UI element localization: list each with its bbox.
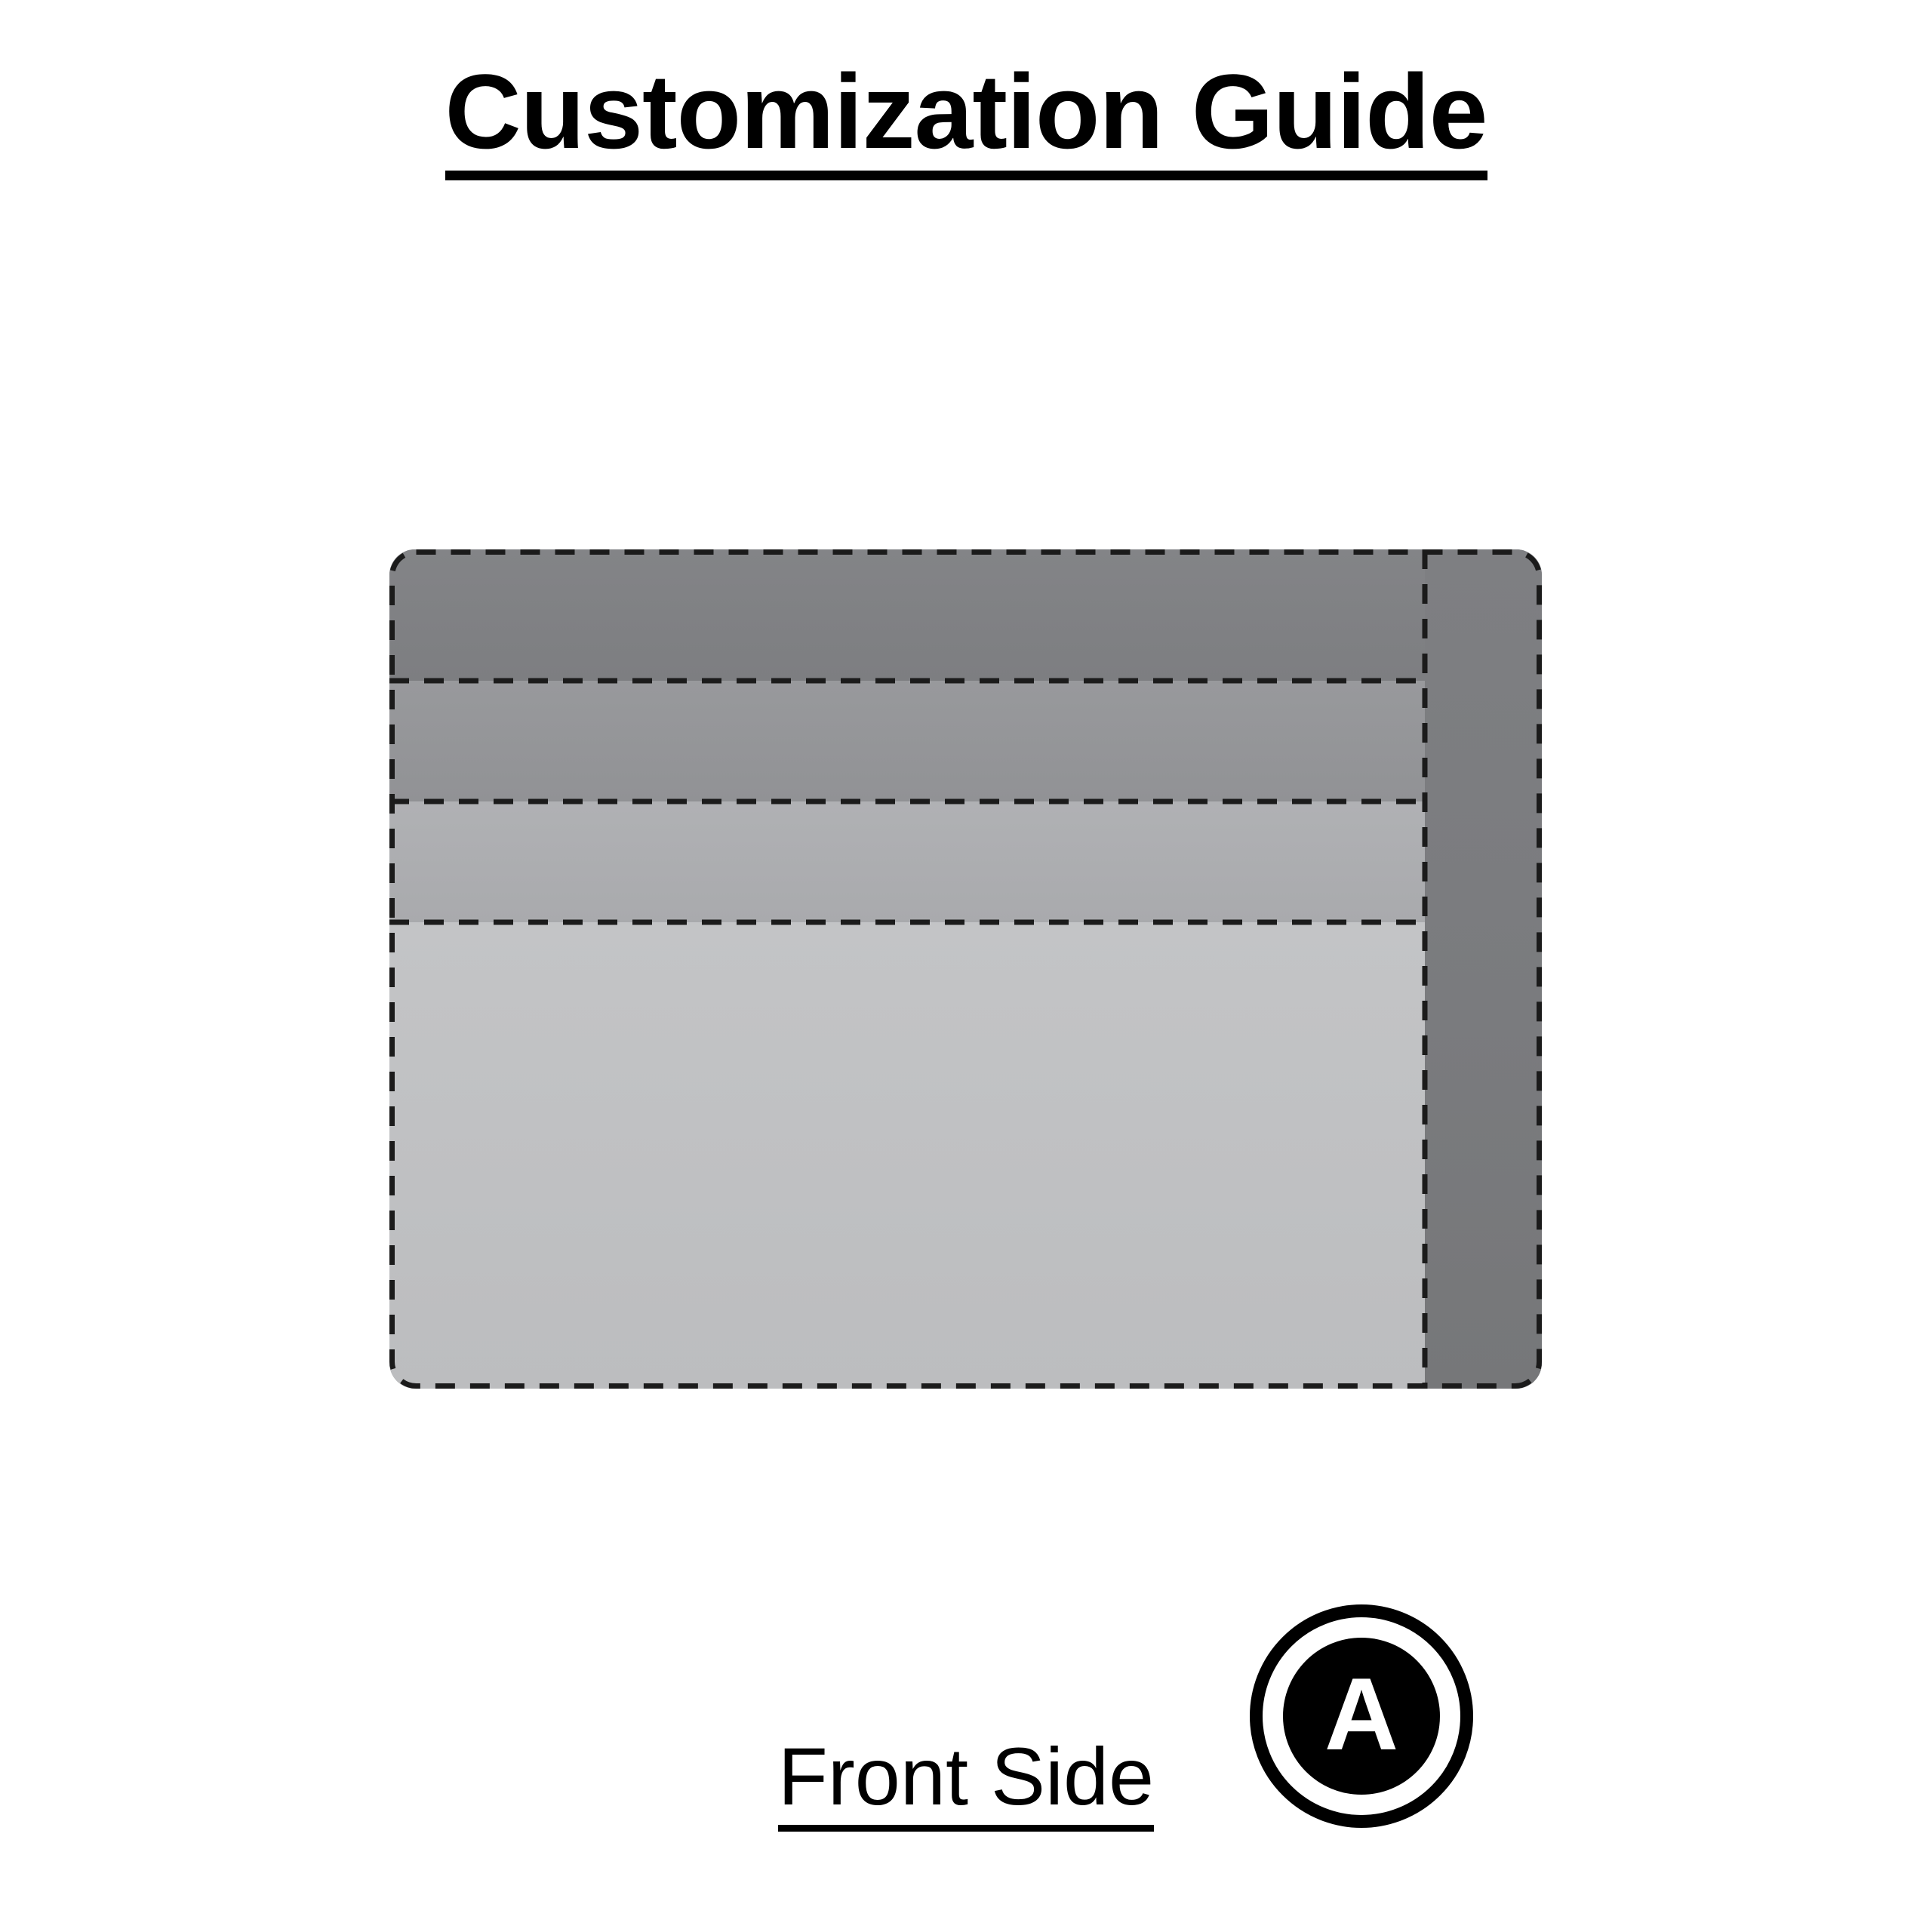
page-title: Customization Guide <box>0 59 1932 180</box>
card-body <box>389 549 1542 1389</box>
side-caption: Front Side <box>0 1736 1932 1832</box>
pocket-band-1 <box>389 549 1425 681</box>
guide-page: Customization Guide A <box>0 0 1932 1932</box>
page-title-text: Customization Guide <box>445 59 1487 180</box>
card-pocket-area <box>389 549 1425 1389</box>
card-side-panel <box>1425 549 1542 1389</box>
pocket-band-2 <box>389 681 1425 801</box>
pocket-band-4 <box>389 922 1425 1389</box>
side-caption-text: Front Side <box>778 1736 1154 1832</box>
pocket-band-3 <box>389 801 1425 922</box>
card-graphic: A <box>389 549 1542 1389</box>
